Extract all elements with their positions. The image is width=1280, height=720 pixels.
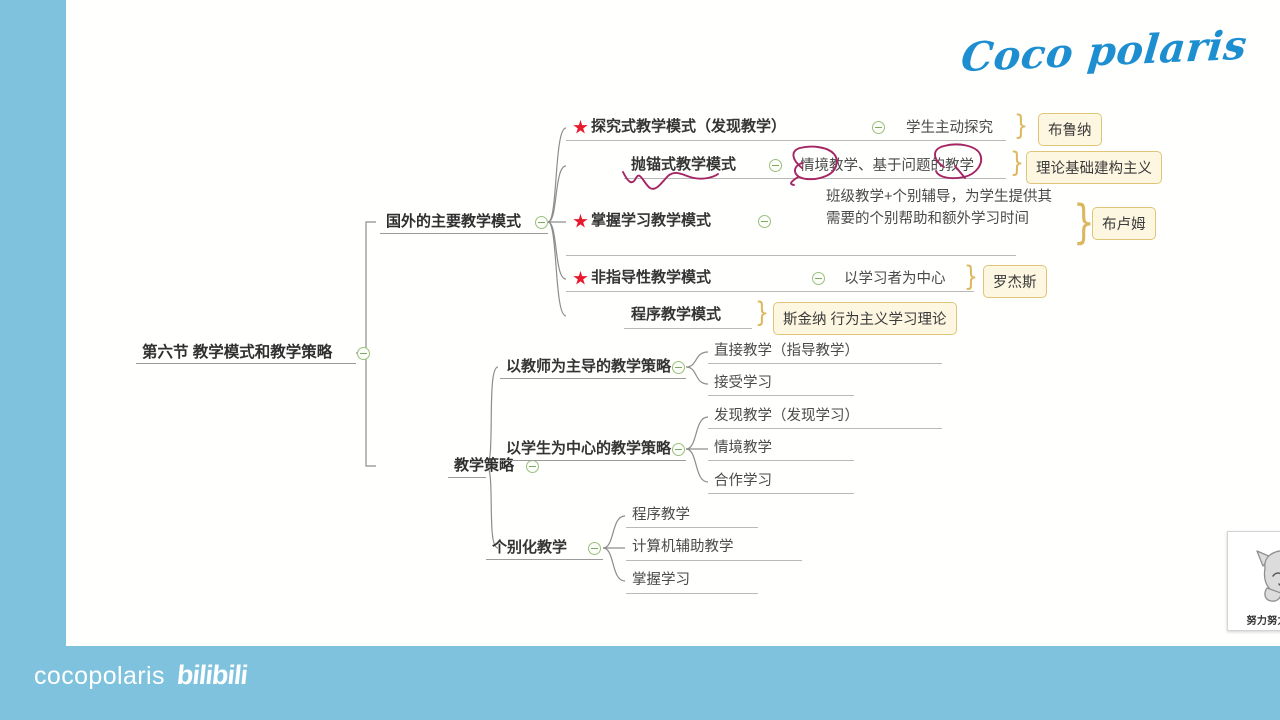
cat-sticker-icon (1237, 538, 1280, 616)
node-anchored-model[interactable]: 抛锚式教学模式 (631, 156, 736, 175)
sticker-caption: 努力努力再努力! (1228, 612, 1280, 627)
leaf-reception-learning-underline (708, 395, 854, 396)
webcam-overlay[interactable]: 努力努力再努力! (1227, 531, 1280, 631)
note-skinner[interactable]: 斯金纳 行为主义学习理论 (773, 302, 957, 335)
star-icon (573, 271, 588, 286)
node-individualized-instruction[interactable]: 个别化教学 (492, 539, 567, 558)
star-icon (573, 214, 588, 229)
leaf-direct-instruction[interactable]: 直接教学（指导教学） (714, 342, 859, 360)
node-student-centered-strategy-toggle[interactable] (672, 443, 685, 456)
brace-icon-4: } (964, 264, 978, 292)
detail-mastery-model[interactable]: 班级教学+个别辅导，为学生提供其需要的个别帮助和额外学习时间 (826, 186, 1058, 231)
node-individualized-instruction-underline (486, 559, 603, 560)
node-nondirective-model-underline (566, 291, 974, 292)
detail-nondirective-model-label: 以学习者为中心 (844, 270, 946, 288)
node-inquiry-model[interactable]: 探究式教学模式（发现教学） (573, 118, 786, 137)
node-individualized-instruction-toggle[interactable] (588, 542, 601, 555)
branch-foreign-models[interactable]: 国外的主要教学模式 (386, 213, 521, 232)
root-label: 第六节 教学模式和教学策略 (142, 343, 332, 362)
node-programmed-model-label: 程序教学模式 (631, 306, 721, 325)
branch-teaching-strategies-underline (448, 477, 486, 478)
leaf-computer-assisted-underline (626, 560, 802, 561)
leaf-computer-assisted-label: 计算机辅助教学 (632, 538, 734, 556)
node-mastery-model[interactable]: 掌握学习教学模式 (573, 212, 711, 231)
mindmap-root-node[interactable]: 第六节 教学模式和教学策略 (142, 343, 332, 362)
leaf-reception-learning-label: 接受学习 (714, 374, 772, 392)
node-student-centered-strategy-label: 以学生为中心的教学策略 (506, 440, 671, 459)
branch-teaching-strategies-toggle[interactable] (526, 460, 539, 473)
leaf-programmed-instruction-label: 程序教学 (632, 506, 690, 524)
leaf-reception-learning[interactable]: 接受学习 (714, 374, 772, 392)
node-anchored-model-underline (624, 178, 1006, 179)
node-student-centered-strategy-underline (500, 460, 686, 461)
leaf-mastery-learning[interactable]: 掌握学习 (632, 571, 690, 589)
node-programmed-model[interactable]: 程序教学模式 (631, 306, 721, 325)
leaf-situational-teaching-label: 情境教学 (714, 439, 772, 457)
leaf-cooperative-learning[interactable]: 合作学习 (714, 472, 772, 490)
node-nondirective-model-label: 非指导性教学模式 (591, 269, 711, 288)
node-inquiry-model-underline (566, 140, 1006, 141)
node-anchored-model-label: 抛锚式教学模式 (631, 156, 736, 175)
channel-watermark: cocopolaris bilibili (34, 660, 247, 691)
detail-inquiry-model-label: 学生主动探究 (906, 119, 993, 137)
brace-icon-1: } (1014, 113, 1028, 141)
slide-panel: Coco polaris (66, 0, 1280, 646)
node-mastery-model-label: 掌握学习教学模式 (591, 212, 711, 231)
detail-anchored-model-label: 情境教学、基于问题的教学 (800, 157, 974, 175)
node-nondirective-model-toggle[interactable] (812, 272, 825, 285)
leaf-cooperative-learning-underline (708, 493, 854, 494)
leaf-cooperative-learning-label: 合作学习 (714, 472, 772, 490)
leaf-situational-teaching-underline (708, 460, 854, 461)
node-teacher-led-strategy-underline (500, 378, 686, 379)
leaf-situational-teaching[interactable]: 情境教学 (714, 439, 772, 457)
channel-name: cocopolaris (34, 662, 165, 691)
mindmap: 第六节 教学模式和教学策略 国外的主要教学模式 探究式教学模式（发现教学） 学生… (66, 0, 1280, 646)
node-teacher-led-strategy-label: 以教师为主导的教学策略 (506, 358, 671, 377)
node-mastery-model-toggle[interactable] (758, 215, 771, 228)
node-inquiry-model-toggle[interactable] (872, 121, 885, 134)
root-underline (136, 363, 356, 364)
detail-anchored-model[interactable]: 情境教学、基于问题的教学 (800, 157, 974, 175)
node-student-centered-strategy[interactable]: 以学生为中心的教学策略 (506, 440, 671, 459)
node-teacher-led-strategy-toggle[interactable] (672, 361, 685, 374)
leaf-discovery-teaching-label: 发现教学（发现学习） (714, 407, 859, 425)
brace-icon-2: } (1010, 150, 1024, 178)
leaf-direct-instruction-underline (708, 363, 942, 364)
note-bloom[interactable]: 布卢姆 (1092, 207, 1156, 240)
brace-icon-5: } (755, 300, 769, 328)
leaf-programmed-instruction[interactable]: 程序教学 (632, 506, 690, 524)
slide-stage: Coco polaris (0, 0, 1280, 720)
branch-foreign-models-label: 国外的主要教学模式 (386, 213, 521, 232)
node-individualized-instruction-label: 个别化教学 (492, 539, 567, 558)
star-icon (573, 120, 588, 135)
branch-foreign-models-underline (380, 233, 548, 234)
bilibili-logo: bilibili (175, 660, 248, 691)
leaf-mastery-learning-underline (626, 593, 758, 594)
note-bruner[interactable]: 布鲁纳 (1038, 113, 1102, 146)
branch-foreign-models-toggle[interactable] (535, 216, 548, 229)
leaf-mastery-learning-label: 掌握学习 (632, 571, 690, 589)
node-programmed-model-underline (624, 328, 752, 329)
node-teacher-led-strategy[interactable]: 以教师为主导的教学策略 (506, 358, 671, 377)
root-collapse-toggle[interactable] (357, 347, 370, 360)
node-nondirective-model[interactable]: 非指导性教学模式 (573, 269, 711, 288)
note-rogers[interactable]: 罗杰斯 (983, 265, 1047, 298)
note-constructivism[interactable]: 理论基础建构主义 (1026, 151, 1162, 184)
node-anchored-model-toggle[interactable] (769, 159, 782, 172)
leaf-computer-assisted[interactable]: 计算机辅助教学 (632, 538, 734, 556)
detail-inquiry-model[interactable]: 学生主动探究 (906, 119, 993, 137)
node-inquiry-model-label: 探究式教学模式（发现教学） (591, 118, 786, 137)
leaf-programmed-instruction-underline (626, 527, 758, 528)
detail-nondirective-model[interactable]: 以学习者为中心 (844, 270, 946, 288)
leaf-discovery-teaching-underline (708, 428, 942, 429)
node-mastery-model-underline (566, 255, 1016, 256)
leaf-direct-instruction-label: 直接教学（指导教学） (714, 342, 859, 360)
leaf-discovery-teaching[interactable]: 发现教学（发现学习） (714, 407, 859, 425)
